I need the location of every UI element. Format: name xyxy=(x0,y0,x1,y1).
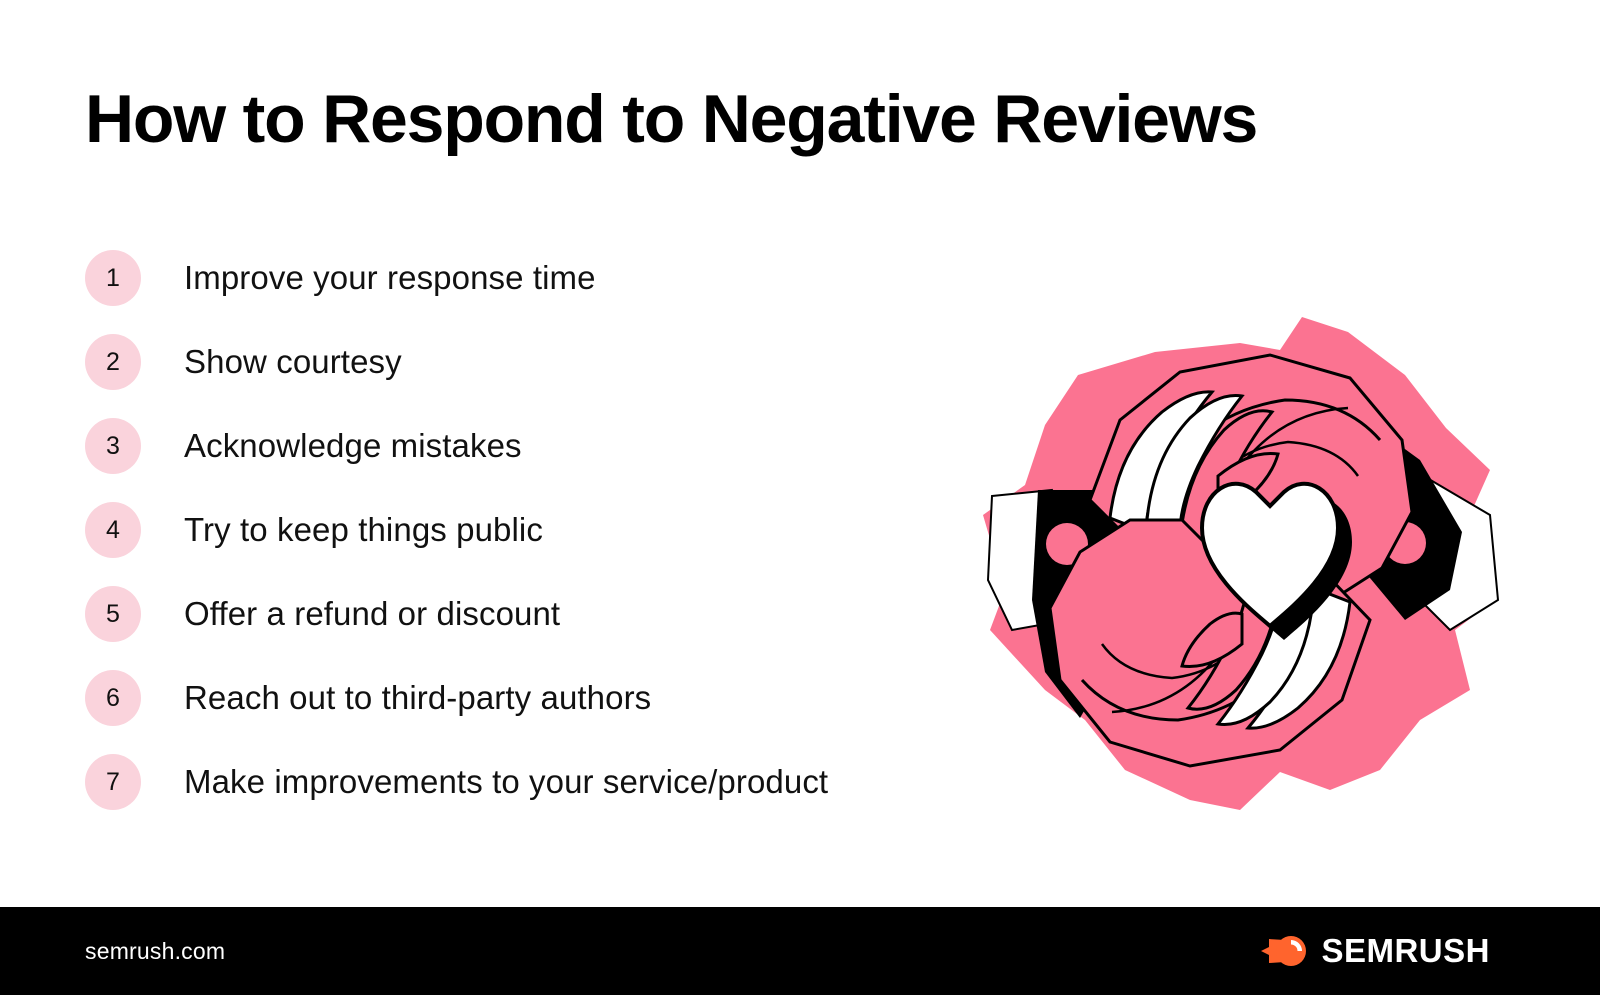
step-label: Acknowledge mistakes xyxy=(184,427,522,465)
step-number-badge: 6 xyxy=(85,670,141,726)
list-item: 4 Try to keep things public xyxy=(85,488,985,572)
footer-url[interactable]: semrush.com xyxy=(85,938,225,965)
step-number-badge: 3 xyxy=(85,418,141,474)
list-item: 7 Make improvements to your service/prod… xyxy=(85,740,985,824)
steps-list: 1 Improve your response time 2 Show cour… xyxy=(85,236,985,824)
two-hands-forming-heart-illustration xyxy=(950,300,1510,820)
list-item: 6 Reach out to third-party authors xyxy=(85,656,985,740)
infographic-page: How to Respond to Negative Reviews 1 Imp… xyxy=(0,0,1600,995)
footer-bar: semrush.com SEMRUSH xyxy=(0,907,1600,995)
step-number-badge: 7 xyxy=(85,754,141,810)
list-item: 3 Acknowledge mistakes xyxy=(85,404,985,488)
step-label: Show courtesy xyxy=(184,343,402,381)
step-label: Improve your response time xyxy=(184,259,596,297)
semrush-logo[interactable]: SEMRUSH xyxy=(1261,932,1490,970)
step-number-badge: 1 xyxy=(85,250,141,306)
step-number-badge: 5 xyxy=(85,586,141,642)
semrush-comet-icon xyxy=(1261,934,1307,968)
step-number-badge: 2 xyxy=(85,334,141,390)
step-number-badge: 4 xyxy=(85,502,141,558)
step-label: Offer a refund or discount xyxy=(184,595,560,633)
list-item: 5 Offer a refund or discount xyxy=(85,572,985,656)
list-item: 2 Show courtesy xyxy=(85,320,985,404)
step-label: Make improvements to your service/produc… xyxy=(184,763,828,801)
list-item: 1 Improve your response time xyxy=(85,236,985,320)
step-label: Try to keep things public xyxy=(184,511,543,549)
page-title: How to Respond to Negative Reviews xyxy=(85,84,1505,155)
semrush-wordmark: SEMRUSH xyxy=(1321,932,1490,970)
step-label: Reach out to third-party authors xyxy=(184,679,651,717)
